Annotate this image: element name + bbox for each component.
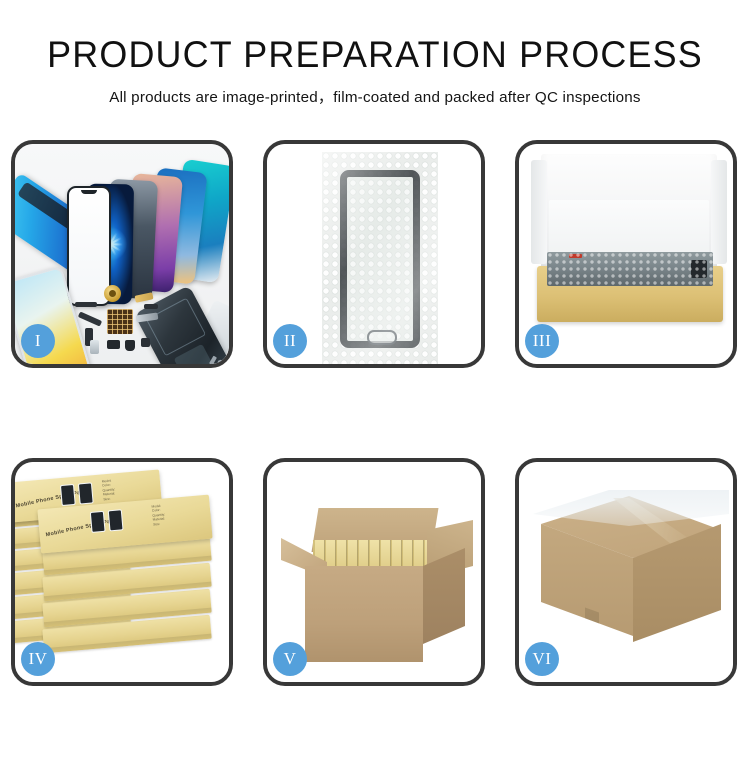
- ic-chip-1: [107, 340, 120, 349]
- process-step-4[interactable]: Mobile Phone Spare Parts Model: Color: Q…: [11, 458, 233, 686]
- box-spec-list-back: Model: Color: Quantity: Material: Size:: [102, 475, 156, 501]
- packed-screen: [547, 252, 713, 286]
- carton-front-open: [305, 566, 423, 662]
- process-step-5[interactable]: V: [263, 458, 485, 686]
- box-phone-artwork-front: [90, 509, 128, 533]
- step-badge-5: V: [273, 642, 307, 676]
- page-title: PRODUCT PREPARATION PROCESS: [11, 36, 739, 73]
- speaker-component: [75, 302, 97, 307]
- step-badge-2: II: [273, 324, 307, 358]
- page-subtitle: All products are image-printed，film-coat…: [0, 85, 750, 107]
- process-step-grid: I II: [11, 140, 739, 776]
- process-step-3[interactable]: III: [515, 140, 737, 368]
- kraft-box-tray: [537, 266, 723, 322]
- bubble-wrap-sheet: [322, 152, 438, 364]
- process-row-top: I II: [11, 140, 739, 368]
- screen-connector: [691, 260, 707, 278]
- flex-cable-dark: [144, 304, 158, 309]
- ic-chip-2: [125, 340, 135, 351]
- process-row-bottom: Mobile Phone Spare Parts Model: Color: Q…: [11, 458, 739, 686]
- battery-component: [90, 340, 99, 354]
- step-badge-3: III: [525, 324, 559, 358]
- step-badge-6: VI: [525, 642, 559, 676]
- ic-chip-3: [141, 338, 150, 347]
- box-spec-list-front: Model: Color: Quantity: Material: Size:: [151, 500, 205, 526]
- step-badge-4: IV: [21, 642, 55, 676]
- coil-component: [104, 285, 121, 302]
- red-label-tag: [569, 254, 582, 258]
- bubble-wrap-gloss: [322, 152, 438, 364]
- page-header: PRODUCT PREPARATION PROCESS All products…: [0, 0, 750, 107]
- process-step-1[interactable]: I: [11, 140, 233, 368]
- box-phone-artwork-back: [60, 482, 98, 506]
- process-step-2[interactable]: II: [263, 140, 485, 368]
- step-badge-1: I: [21, 324, 55, 358]
- chip-grid-component: [107, 309, 133, 334]
- process-step-6[interactable]: VI: [515, 458, 737, 686]
